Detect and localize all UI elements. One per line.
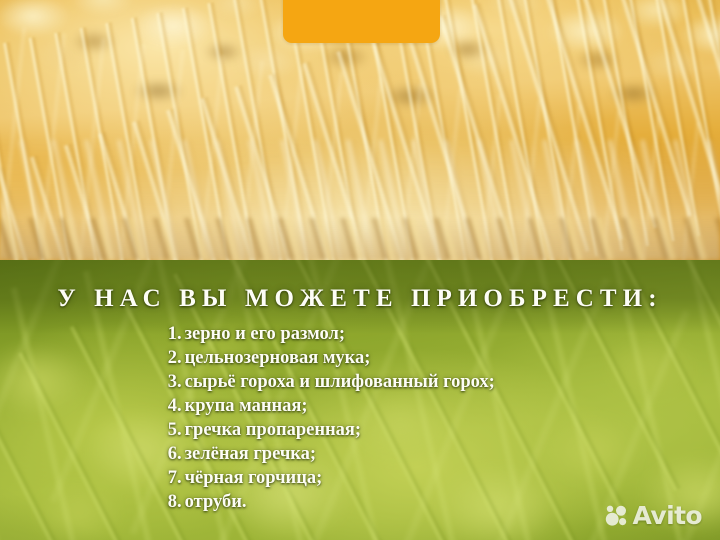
list-item-dot: . [177, 468, 185, 489]
list-item-dot: . [177, 348, 185, 369]
list-item-dot: . [177, 492, 185, 513]
list-item-text: гречка пропаренная; [185, 420, 361, 441]
list-item-dot: . [177, 420, 185, 441]
list-item-dot: . [177, 324, 185, 345]
list-item-number: 6 [160, 444, 177, 465]
list-item-dot: . [177, 396, 185, 417]
avito-bubbles-icon [604, 504, 628, 528]
green-grass-panel: У НАС ВЫ МОЖЕТЕ ПРИОБРЕСТИ: 1 . зерно и … [0, 260, 720, 540]
avito-wordmark: Avito [633, 503, 702, 528]
list-item: 6 . зелёная гречка; [0, 444, 720, 468]
list-item: 1 . зерно и его размол; [0, 324, 720, 348]
list-item-number: 3 [160, 372, 177, 393]
list-item-text: зелёная гречка; [185, 444, 316, 465]
list-item-text: сырьё гороха и шлифованный горох; [185, 372, 495, 393]
list-item: 3 . сырьё гороха и шлифованный горох; [0, 372, 720, 396]
avito-watermark: Avito [604, 503, 702, 528]
list-item-number: 5 [160, 420, 177, 441]
list-item-number: 7 [160, 468, 177, 489]
list-item-dot: . [177, 444, 185, 465]
advertisement-poster: У НАС ВЫ МОЖЕТЕ ПРИОБРЕСТИ: 1 . зерно и … [0, 0, 720, 540]
list-item-number: 1 [160, 324, 177, 345]
list-item: 2 . цельнозерновая мука; [0, 348, 720, 372]
offer-item-list: 1 . зерно и его размол; 2 . цельнозернов… [0, 324, 720, 516]
list-item-text: чёрная горчица; [185, 468, 323, 489]
list-item-text: крупа манная; [185, 396, 308, 417]
list-item: 4 . крупа манная; [0, 396, 720, 420]
list-item-dot: . [177, 372, 185, 393]
orange-badge [283, 0, 440, 43]
list-item-number: 8 [160, 492, 177, 513]
list-item-number: 4 [160, 396, 177, 417]
list-item: 5 . гречка пропаренная; [0, 420, 720, 444]
list-item-number: 2 [160, 348, 177, 369]
offer-content: У НАС ВЫ МОЖЕТЕ ПРИОБРЕСТИ: 1 . зерно и … [0, 260, 720, 540]
list-item-text: отруби. [185, 492, 247, 513]
list-item-text: цельнозерновая мука; [185, 348, 371, 369]
list-item: 7 . чёрная горчица; [0, 468, 720, 492]
list-item-text: зерно и его размол; [185, 324, 345, 345]
offer-heading: У НАС ВЫ МОЖЕТЕ ПРИОБРЕСТИ: [0, 286, 720, 311]
